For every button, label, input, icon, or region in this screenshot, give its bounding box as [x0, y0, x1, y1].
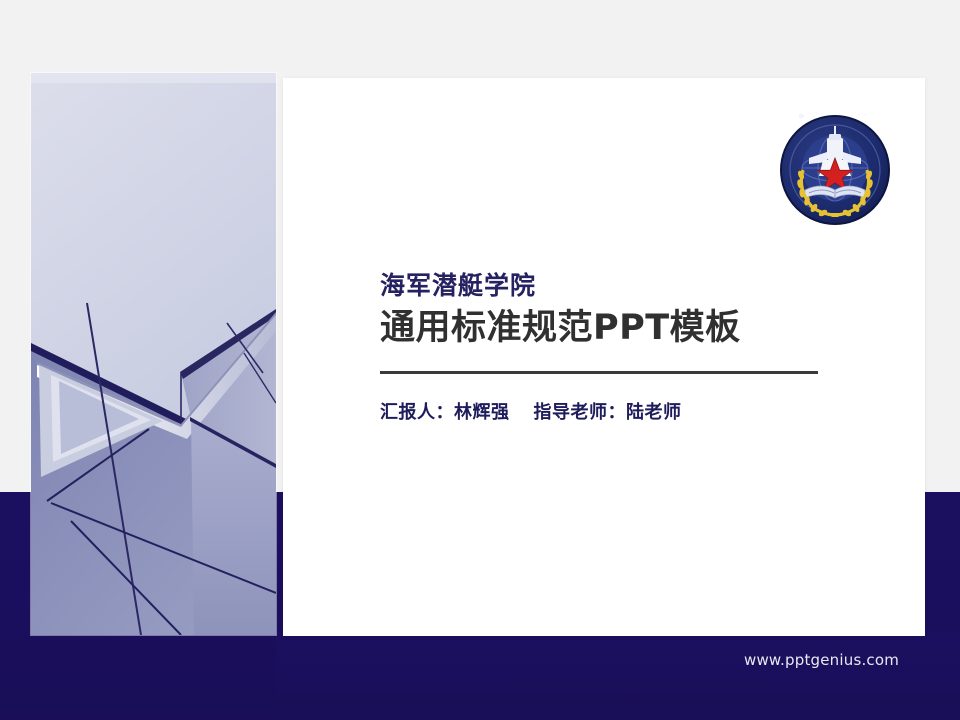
naval-submarine-academy-emblem-icon: 中国人民解放军海军潜艇学院: [779, 114, 891, 226]
presentation-slide: 中国人民解放军海军潜艇学院 海军潜艇学院 通用标准规范PPT模板 汇报人：林辉强…: [0, 0, 960, 720]
credits-line: 汇报人：林辉强指导老师：陆老师: [380, 398, 840, 424]
title-block: 海军潜艇学院 通用标准规范PPT模板 汇报人：林辉强指导老师：陆老师: [380, 270, 840, 424]
presenter-label: 汇报人：林辉强: [380, 402, 510, 423]
advisor-label: 指导老师：陆老师: [534, 402, 682, 423]
architecture-photo: [31, 73, 276, 635]
page-title: 通用标准规范PPT模板: [380, 307, 840, 349]
footer-url[interactable]: www.pptgenius.com: [744, 651, 899, 669]
title-divider: [380, 371, 818, 374]
bottom-navy-band-right: [276, 632, 960, 720]
organization-name: 海军潜艇学院: [380, 270, 840, 301]
